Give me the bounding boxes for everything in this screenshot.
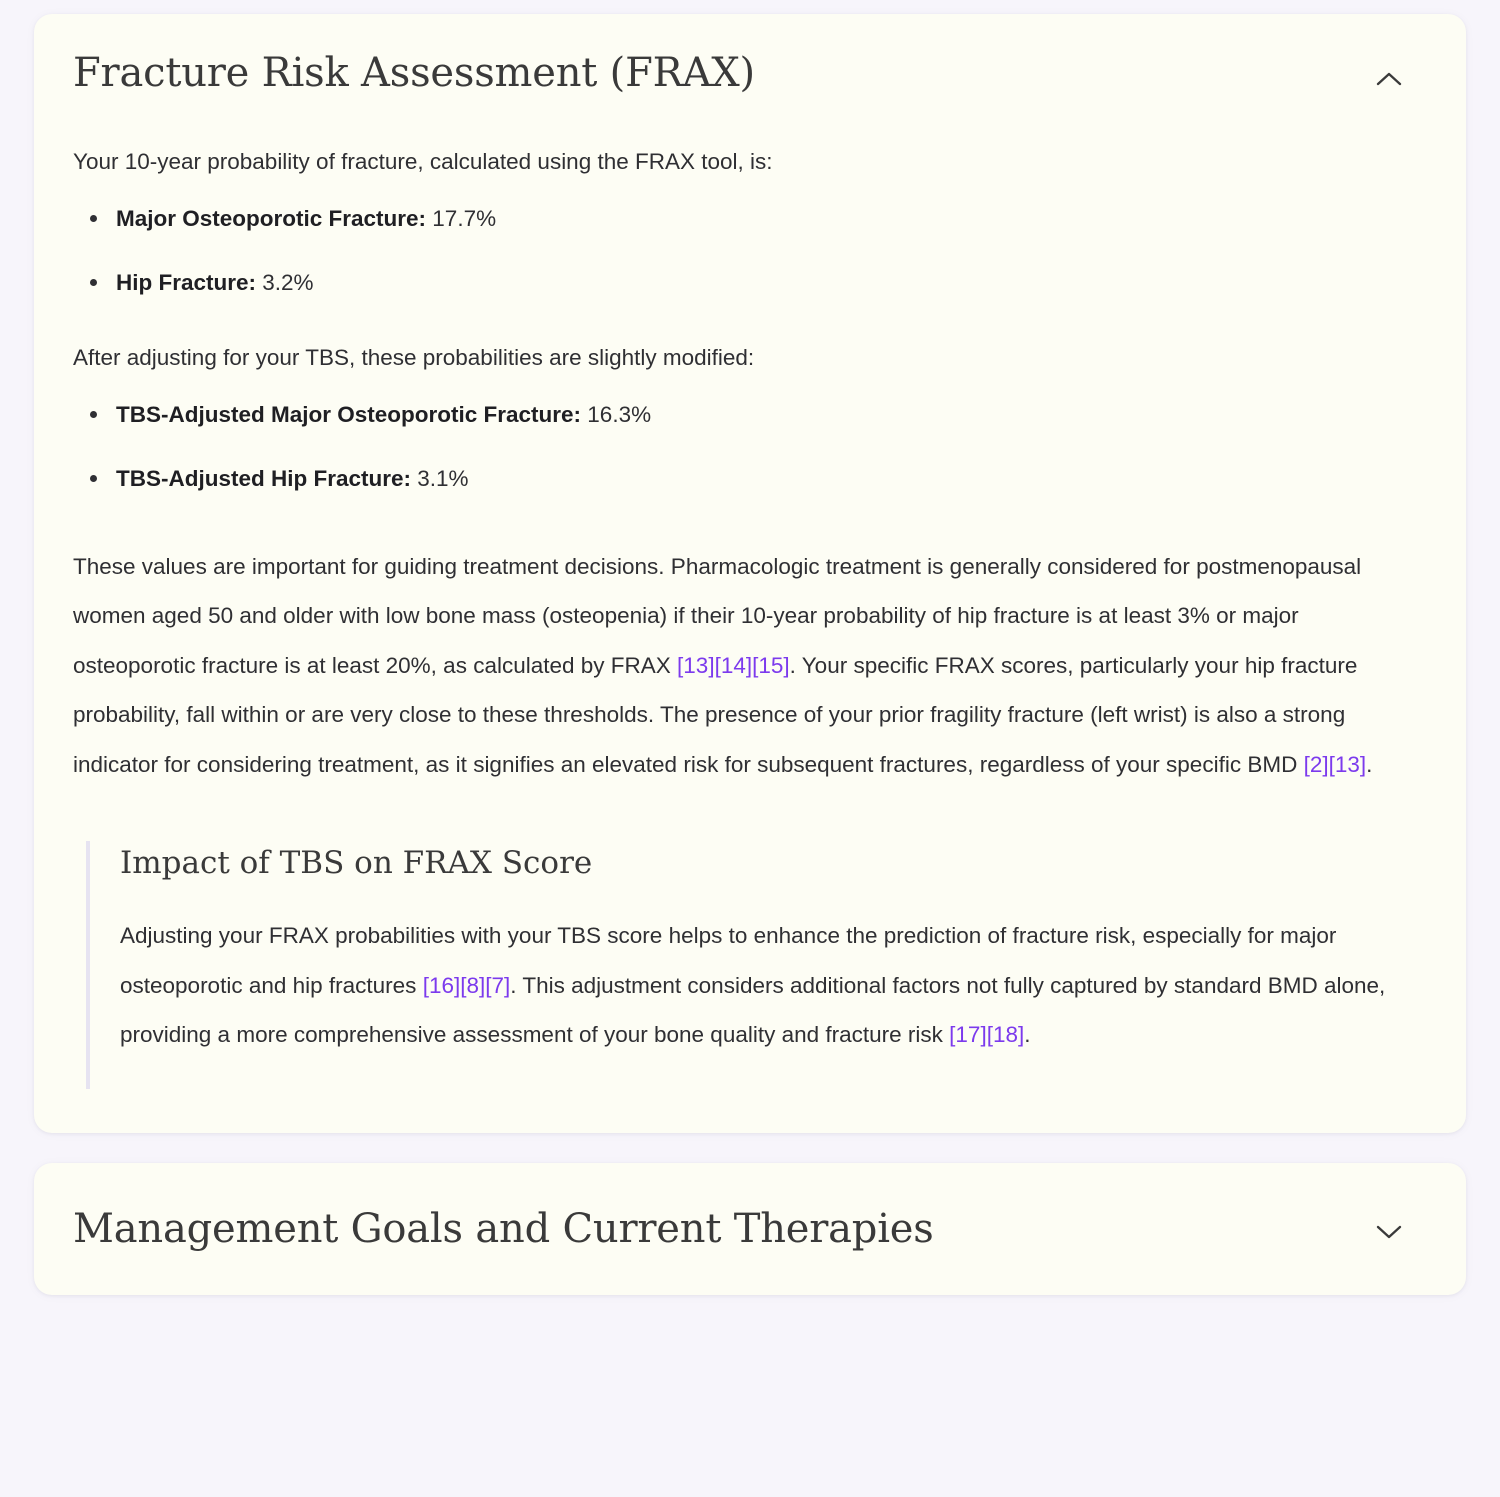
metric-value: 3.1% [411, 466, 469, 491]
callout-title: Impact of TBS on FRAX Score [120, 845, 1420, 882]
section-header-frax[interactable]: Fracture Risk Assessment (FRAX) [72, 50, 1420, 102]
chevron-up-icon[interactable] [1366, 56, 1412, 102]
paragraph-text-part-3: . [1366, 752, 1372, 777]
chevron-down-icon[interactable] [1366, 1209, 1412, 1255]
callout-text-part-3: . [1024, 1022, 1030, 1047]
list-item: TBS-Adjusted Major Osteoporotic Fracture… [72, 398, 1420, 432]
metric-value: 16.3% [581, 402, 651, 427]
metric-label: Major Osteoporotic Fracture: [116, 206, 426, 231]
list-item: Major Osteoporotic Fracture: 17.7% [72, 202, 1420, 236]
frax-adjusted-metrics-list: TBS-Adjusted Major Osteoporotic Fracture… [72, 398, 1420, 496]
frax-explanation-paragraph: These values are important for guiding t… [72, 542, 1420, 790]
citation-link[interactable]: [17][18] [949, 1022, 1024, 1047]
section-card-management[interactable]: Management Goals and Current Therapies [34, 1163, 1466, 1295]
section-title-management: Management Goals and Current Therapies [72, 1206, 934, 1252]
metric-label: TBS-Adjusted Hip Fracture: [116, 466, 411, 491]
citation-link[interactable]: [2][13] [1304, 752, 1367, 777]
page-root: Fracture Risk Assessment (FRAX) Your 10-… [0, 0, 1500, 1497]
citation-link[interactable]: [13][14][15] [677, 653, 790, 678]
frax-primary-metrics-list: Major Osteoporotic Fracture: 17.7% Hip F… [72, 202, 1420, 300]
callout-body-text: Adjusting your FRAX probabilities with y… [120, 911, 1420, 1061]
page-title: Fracture Risk Assessment (FRAX) [72, 50, 755, 96]
frax-lead-text: Your 10-year probability of fracture, ca… [72, 144, 1420, 180]
frax-tbs-intro-text: After adjusting for your TBS, these prob… [72, 340, 1420, 376]
callout-tbs-impact: Impact of TBS on FRAX Score Adjusting yo… [86, 841, 1420, 1089]
list-item: Hip Fracture: 3.2% [72, 266, 1420, 300]
list-item: TBS-Adjusted Hip Fracture: 3.1% [72, 462, 1420, 496]
citation-link[interactable]: [16][8][7] [423, 973, 511, 998]
metric-label: Hip Fracture: [116, 270, 256, 295]
section-card-frax: Fracture Risk Assessment (FRAX) Your 10-… [34, 14, 1466, 1133]
metric-value: 3.2% [256, 270, 314, 295]
metric-label: TBS-Adjusted Major Osteoporotic Fracture… [116, 402, 581, 427]
metric-value: 17.7% [426, 206, 496, 231]
